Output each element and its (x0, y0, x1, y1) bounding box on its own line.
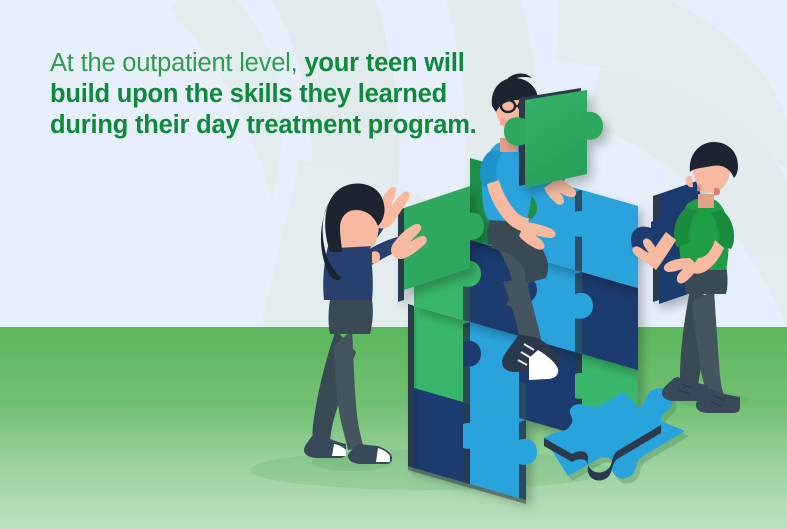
woman-pants (329, 300, 373, 334)
scene-artwork (0, 0, 787, 529)
illustration-canvas: At the outpatient level, your teen will … (0, 0, 787, 529)
man-right-neck (698, 194, 714, 208)
puzzle-piece-r1c3 (582, 190, 638, 288)
puzzle-piece-r3c1 (414, 306, 470, 404)
puzzle-piece-edge-left (408, 304, 414, 468)
puzzle-piece-r3c2-lower (470, 404, 526, 500)
puzzle-piece-r3c1-lower (414, 388, 470, 484)
puzzle-piece-r2c4 (582, 272, 638, 370)
